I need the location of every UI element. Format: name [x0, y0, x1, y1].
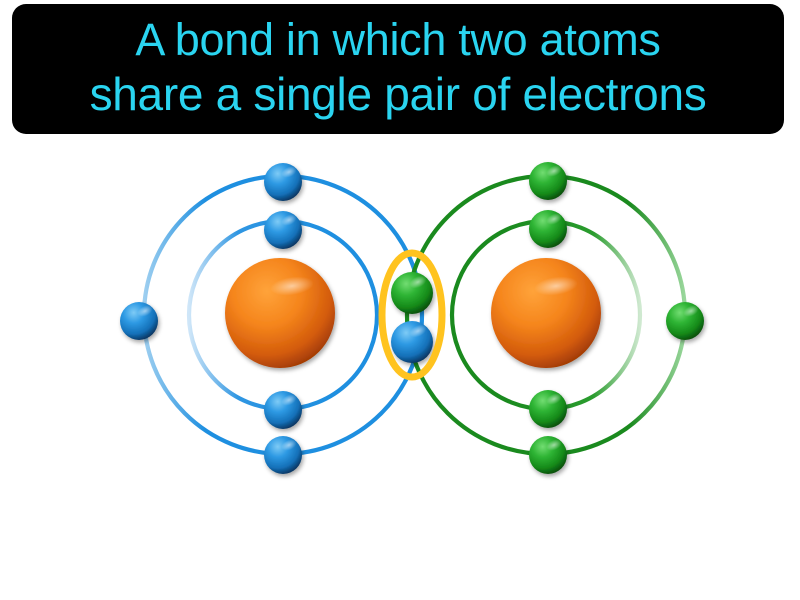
- electron-green-right-outer[interactable]: [666, 302, 704, 340]
- slide-root: A bond in which two atoms share a single…: [0, 0, 800, 600]
- electron-green-top-outer[interactable]: [529, 162, 567, 200]
- covalent-bond-diagram: [0, 134, 800, 600]
- electron-green-top-inner[interactable]: [529, 210, 567, 248]
- definition-banner: A bond in which two atoms share a single…: [12, 4, 784, 134]
- right-atom-nucleus[interactable]: [491, 258, 601, 368]
- electron-blue-top-outer[interactable]: [264, 163, 302, 201]
- electron-blue-bottom-outer[interactable]: [264, 436, 302, 474]
- definition-line-2: share a single pair of electrons: [90, 67, 707, 121]
- left-atom-nucleus[interactable]: [225, 258, 335, 368]
- definition-line-1: A bond in which two atoms: [135, 13, 660, 67]
- shared-electron-green[interactable]: [391, 272, 433, 314]
- electron-blue-top-inner[interactable]: [264, 211, 302, 249]
- electron-green-bottom-outer[interactable]: [529, 436, 567, 474]
- electron-blue-left-outer[interactable]: [120, 302, 158, 340]
- shared-electron-blue[interactable]: [391, 321, 433, 363]
- electron-green-bottom-inner[interactable]: [529, 390, 567, 428]
- electron-blue-bottom-inner[interactable]: [264, 391, 302, 429]
